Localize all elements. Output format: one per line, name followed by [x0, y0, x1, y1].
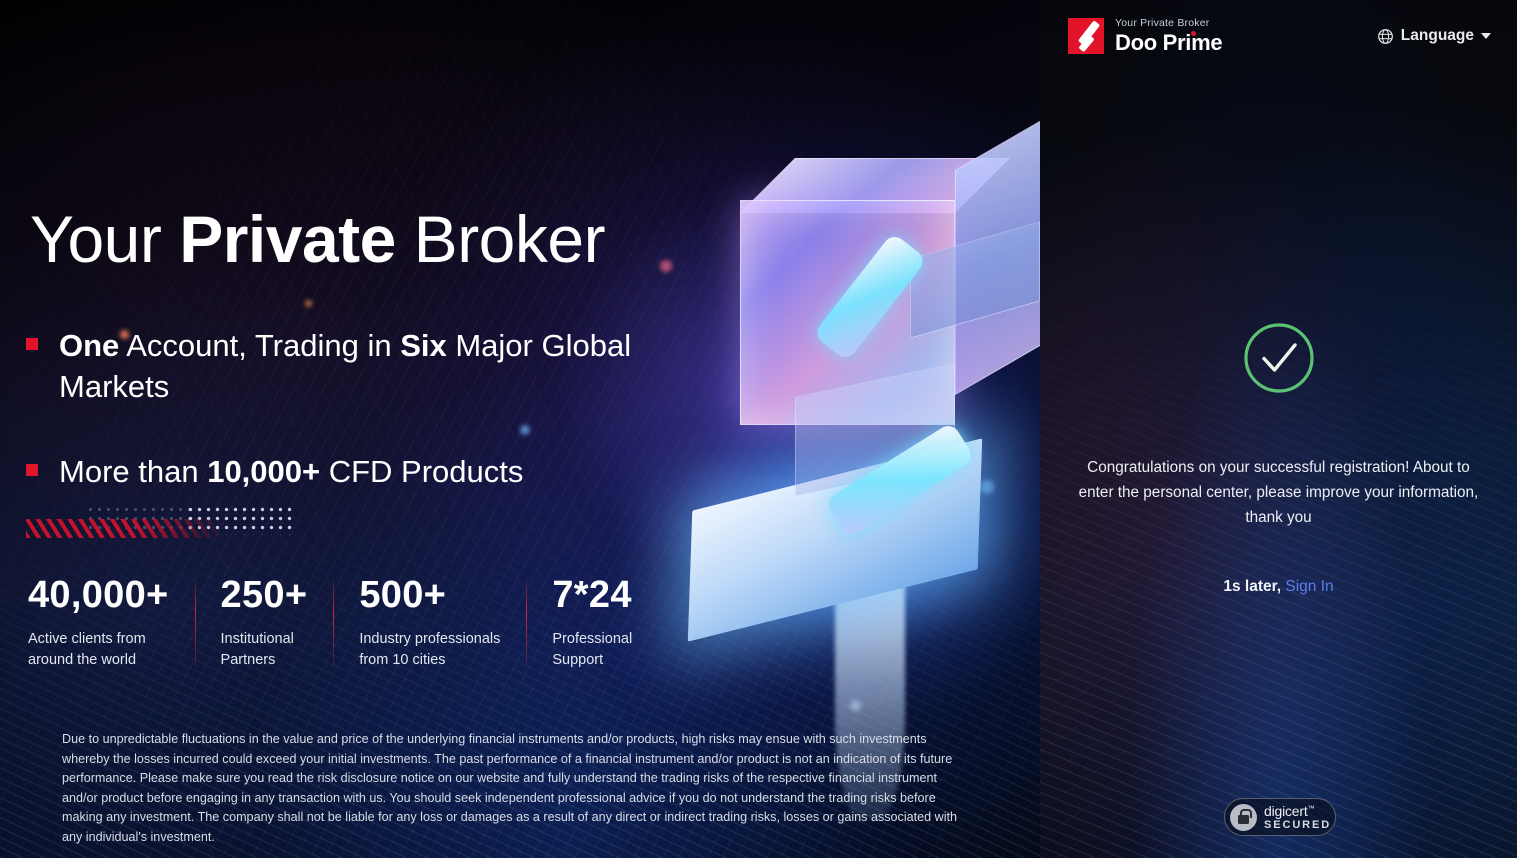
- stat-label: Industry professionals from 10 cities: [359, 629, 500, 671]
- list-item: One Account, Trading in Six Major Global…: [26, 325, 646, 407]
- panel-body: Congratulations on your successful regis…: [1040, 0, 1517, 858]
- stat-label: Institutional Partners: [221, 629, 308, 671]
- bullet-square-icon: [26, 338, 38, 350]
- digicert-brand: digicert™: [1264, 804, 1331, 818]
- stat-item: 500+ Industry professionals from 10 citi…: [333, 576, 526, 671]
- stat-item: 250+ Institutional Partners: [195, 576, 334, 671]
- check-circle-icon: [1243, 322, 1315, 394]
- bullet-square-icon: [26, 464, 38, 476]
- headline-part-1: Your: [30, 202, 179, 276]
- sign-in-link[interactable]: Sign In: [1285, 578, 1333, 595]
- countdown-text: 1s later,: [1223, 578, 1285, 595]
- headline-emphasis: Private: [179, 202, 396, 276]
- digicert-secured-badge[interactable]: digicert™ SECURED: [1224, 798, 1336, 836]
- success-message: Congratulations on your successful regis…: [1069, 456, 1489, 530]
- stat-label: Active clients from around the world: [28, 629, 169, 671]
- stat-value: 40,000+: [28, 576, 169, 614]
- lock-icon: [1230, 804, 1257, 831]
- stat-value: 7*24: [552, 576, 632, 614]
- bullet-mid-text: CFD Products: [320, 454, 523, 489]
- decorative-red-stripes: [26, 519, 226, 538]
- bullet-text: More than 10,000+ CFD Products: [59, 451, 523, 492]
- status-panel: Your Private Broker Doo Prime Language: [1040, 0, 1517, 858]
- hero-stats: 40,000+ Active clients from around the w…: [28, 576, 658, 671]
- stat-value: 250+: [221, 576, 308, 614]
- stat-item: 7*24 Professional Support: [526, 576, 658, 671]
- bullet-emphasis-one: One: [59, 328, 119, 363]
- bullet-text: One Account, Trading in Six Major Global…: [59, 325, 646, 407]
- hero-headline: Your Private Broker: [30, 205, 605, 274]
- digicert-brand-text: digicert: [1264, 803, 1308, 819]
- stat-value: 500+: [359, 576, 500, 614]
- stat-label: Professional Support: [552, 629, 632, 671]
- decorative-graphic: [26, 505, 294, 539]
- registration-success-screen: Your Private Broker One Account, Trading…: [0, 0, 1517, 858]
- stat-item: 40,000+ Active clients from around the w…: [28, 576, 195, 671]
- hero-panel: Your Private Broker One Account, Trading…: [0, 0, 1040, 858]
- risk-disclaimer: Due to unpredictable fluctuations in the…: [62, 730, 974, 847]
- bullet-pre-text: More than: [59, 454, 207, 489]
- digicert-status: SECURED: [1264, 820, 1331, 831]
- hero-content: Your Private Broker One Account, Trading…: [0, 0, 1040, 858]
- headline-part-2: Broker: [396, 202, 605, 276]
- bullet-mid-text: Account, Trading in: [119, 328, 400, 363]
- redirect-countdown: 1s later, Sign In: [1223, 578, 1333, 596]
- bullet-emphasis-six: Six: [400, 328, 447, 363]
- list-item: More than 10,000+ CFD Products: [26, 451, 646, 492]
- digicert-text: digicert™ SECURED: [1264, 804, 1331, 831]
- bullet-emphasis-count: 10,000+: [207, 454, 320, 489]
- trademark-symbol: ™: [1308, 805, 1315, 812]
